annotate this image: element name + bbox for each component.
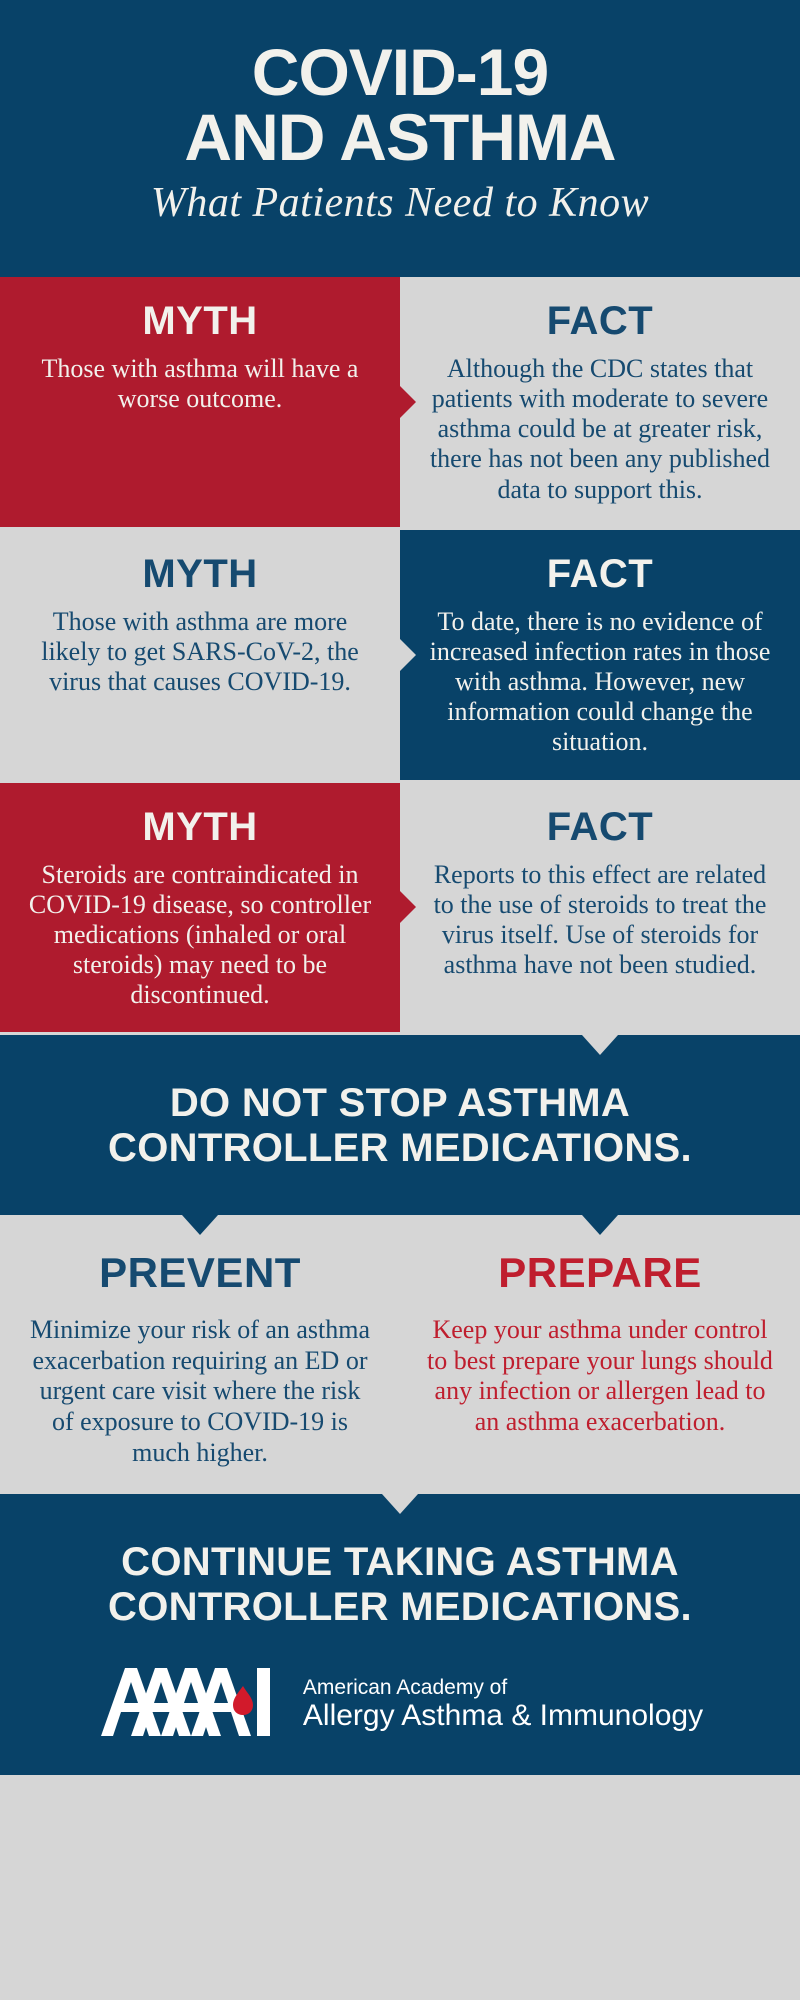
myth-text-3: Steroids are contraindicated in COVID-19… (26, 860, 374, 1011)
arrow-right-icon (399, 385, 416, 419)
prepare-column: PREPARE Keep your asthma under control t… (400, 1249, 800, 1468)
page-subtitle: What Patients Need to Know (20, 181, 780, 225)
fact-panel-3: FACT Reports to this effect are related … (400, 783, 800, 1033)
logo-line-2: Allergy Asthma & Immunology (303, 1699, 703, 1733)
myth-fact-row-2: MYTH Those with asthma are more likely t… (0, 530, 800, 783)
prevent-column: PREVENT Minimize your risk of an asthma … (0, 1249, 400, 1468)
footer-section: CONTINUE TAKING ASTHMA CONTROLLER MEDICA… (0, 1494, 800, 1775)
myth-panel-3: MYTH Steroids are contraindicated in COV… (0, 783, 400, 1033)
fact-panel-1: FACT Although the CDC states that patien… (400, 277, 800, 527)
banner-continue-taking: CONTINUE TAKING ASTHMA CONTROLLER MEDICA… (0, 1494, 800, 1660)
arrow-down-icon (582, 1215, 618, 1235)
myth-text-2: Those with asthma are more likely to get… (26, 607, 374, 697)
prepare-text: Keep your asthma under control to best p… (426, 1315, 774, 1438)
aaaai-logo-mark-icon (97, 1664, 287, 1745)
title-line-1: COVID-19 (252, 35, 548, 109)
banner-bottom-line-2: CONTROLLER MEDICATIONS. (24, 1585, 776, 1630)
myth-panel-2: MYTH Those with asthma are more likely t… (0, 530, 400, 780)
title-line-2: AND ASTHMA (20, 105, 780, 170)
myth-text-1: Those with asthma will have a worse outc… (26, 354, 374, 414)
banner-middle-line-1: DO NOT STOP ASTHMA (170, 1081, 630, 1125)
prepare-label: PREPARE (426, 1249, 774, 1297)
fact-label-2: FACT (426, 552, 774, 597)
aaaai-logo: American Academy of Allergy Asthma & Imm… (0, 1660, 800, 1775)
myth-fact-row-1: MYTH Those with asthma will have a worse… (0, 277, 800, 530)
arrow-down-icon (382, 1494, 418, 1514)
prevent-text: Minimize your risk of an asthma exacerba… (26, 1315, 374, 1468)
arrow-down-icon (582, 1035, 618, 1055)
header-section: COVID-19 AND ASTHMA What Patients Need t… (0, 0, 800, 277)
myth-panel-1: MYTH Those with asthma will have a worse… (0, 277, 400, 527)
banner-middle-line-2: CONTROLLER MEDICATIONS. (24, 1126, 776, 1171)
banner-do-not-stop: DO NOT STOP ASTHMA CONTROLLER MEDICATION… (0, 1035, 800, 1215)
fact-text-2: To date, there is no evidence of increas… (426, 607, 774, 758)
myth-label-1: MYTH (26, 299, 374, 344)
myth-fact-row-3: MYTH Steroids are contraindicated in COV… (0, 783, 800, 1036)
aaaai-logo-text: American Academy of Allergy Asthma & Imm… (303, 1676, 703, 1733)
page-title: COVID-19 AND ASTHMA (20, 30, 780, 169)
prevent-prepare-section: PREVENT Minimize your risk of an asthma … (0, 1215, 800, 1494)
prevent-label: PREVENT (26, 1249, 374, 1297)
arrow-down-icon (182, 1215, 218, 1235)
infographic-page: COVID-19 AND ASTHMA What Patients Need t… (0, 0, 800, 2000)
fact-text-3: Reports to this effect are related to th… (426, 860, 774, 981)
fact-label-1: FACT (426, 299, 774, 344)
logo-line-1: American Academy of (303, 1676, 703, 1700)
myth-label-2: MYTH (26, 552, 374, 597)
arrow-right-icon (399, 890, 416, 924)
arrow-right-icon (399, 638, 416, 672)
fact-text-1: Although the CDC states that patients wi… (426, 354, 774, 505)
myth-label-3: MYTH (26, 805, 374, 850)
fact-panel-2: FACT To date, there is no evidence of in… (400, 530, 800, 780)
banner-bottom-line-1: CONTINUE TAKING ASTHMA (121, 1540, 679, 1584)
fact-label-3: FACT (426, 805, 774, 850)
